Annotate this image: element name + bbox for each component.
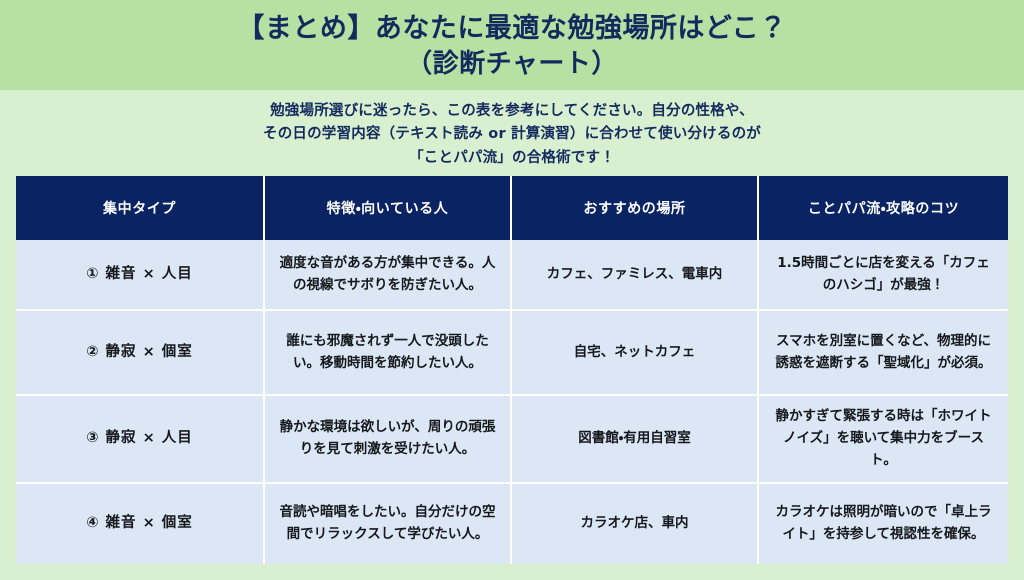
table-row: ② 静寂 × 個室 誰にも邪魔されず一人で没頭したい。移動時間を節約したい人。 … [16,310,1008,395]
title-banner: 【まとめ】あなたに最適な勉強場所はどこ？ （診断チャート） [0,0,1024,90]
table-row: ④ 雑音 × 個室 音読や暗唱をしたい。自分だけの空間でリラックスして学びたい人… [16,483,1008,564]
cell-traits: 適度な音がある方が集中できる。人の視線でサボりを防ぎたい人。 [264,240,511,310]
cell-focus-type: ④ 雑音 × 個室 [16,483,264,564]
cell-traits: 音読や暗唱をしたい。自分だけの空間でリラックスして学びたい人。 [264,483,511,564]
cell-recommended-place: 自宅、ネットカフェ [511,310,758,395]
lead-line-2: その日の学習内容（テキスト読み or 計算演習）に合わせて使い分けるのが [40,123,984,146]
table-header-row: 集中タイプ 特徴・向いている人 おすすめの場所 ことパパ流・攻略のコツ [16,176,1008,240]
lead-paragraph: 勉強場所選びに迷ったら、この表を参考にしてください。自分の性格や、 その日の学習… [0,92,1024,170]
column-header-traits: 特徴・向いている人 [264,176,511,240]
cell-tips: カラオケは照明が暗いので「卓上ライト」を持参して視認性を確保。 [758,483,1008,564]
column-header-tips: ことパパ流・攻略のコツ [758,176,1008,240]
diagnosis-table: 集中タイプ 特徴・向いている人 おすすめの場所 ことパパ流・攻略のコツ ① 雑音… [16,176,1008,564]
cell-traits: 静かな環境は欲しいが、周りの頑張りを見て刺激を受けたい人。 [264,395,511,483]
cell-focus-type: ③ 静寂 × 人目 [16,395,264,483]
column-header-recommended-place: おすすめの場所 [511,176,758,240]
table-body: ① 雑音 × 人目 適度な音がある方が集中できる。人の視線でサボりを防ぎたい人。… [16,240,1008,564]
cell-tips: 1.5時間ごとに店を変える「カフェのハシゴ」が最強！ [758,240,1008,310]
cell-recommended-place: 図書館・有用自習室 [511,395,758,483]
diagnosis-chart-page: 【まとめ】あなたに最適な勉強場所はどこ？ （診断チャート） 勉強場所選びに迷った… [0,0,1024,580]
lead-line-3: 「ことパパ流」の合格術です！ [40,147,984,170]
lead-line-1: 勉強場所選びに迷ったら、この表を参考にしてください。自分の性格や、 [40,100,984,123]
cell-recommended-place: カラオケ店、車内 [511,483,758,564]
cell-traits: 誰にも邪魔されず一人で没頭したい。移動時間を節約したい人。 [264,310,511,395]
table-row: ① 雑音 × 人目 適度な音がある方が集中できる。人の視線でサボりを防ぎたい人。… [16,240,1008,310]
cell-focus-type: ② 静寂 × 個室 [16,310,264,395]
page-title-line-2: （診断チャート） [406,47,618,81]
table-row: ③ 静寂 × 人目 静かな環境は欲しいが、周りの頑張りを見て刺激を受けたい人。 … [16,395,1008,483]
cell-tips: 静かすぎて緊張する時は「ホワイトノイズ」を聴いて集中力をブースト。 [758,395,1008,483]
column-header-focus-type: 集中タイプ [16,176,264,240]
cell-focus-type: ① 雑音 × 人目 [16,240,264,310]
table-header: 集中タイプ 特徴・向いている人 おすすめの場所 ことパパ流・攻略のコツ [16,176,1008,240]
cell-tips: スマホを別室に置くなど、物理的に誘惑を遮断する「聖域化」が必須。 [758,310,1008,395]
cell-recommended-place: カフェ、ファミレス、電車内 [511,240,758,310]
page-title-line-1: 【まとめ】あなたに最適な勉強場所はどこ？ [237,11,786,47]
